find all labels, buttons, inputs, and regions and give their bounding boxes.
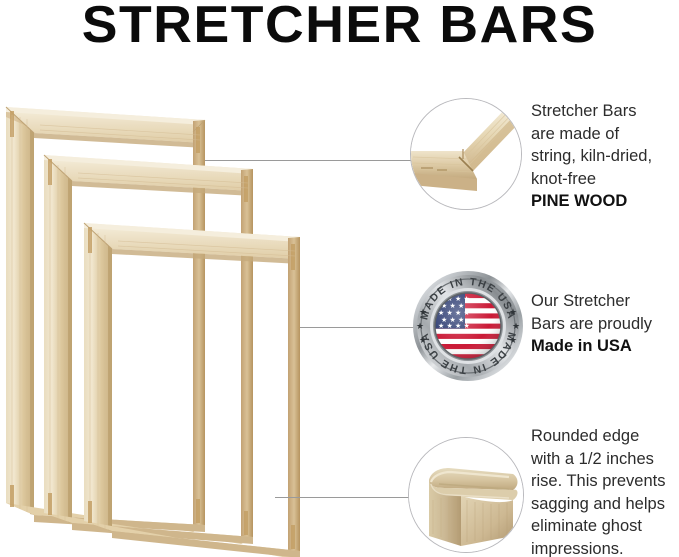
feature-line: string, kiln-dried, — [531, 145, 679, 168]
svg-text:★: ★ — [416, 322, 424, 332]
feature-emphasis: Made in USA — [531, 335, 679, 358]
feature-line: with a 1/2 inches — [531, 448, 679, 471]
wood-corner-photo — [410, 98, 522, 210]
feature-line: Bars are proudly — [531, 313, 679, 336]
feature-line: Stretcher Bars — [531, 100, 679, 123]
feature-emphasis: PINE WOOD — [531, 190, 679, 213]
connector-line-rounded-edge — [275, 497, 413, 498]
stretcher-bar-frames — [0, 85, 360, 545]
feature-line: Rounded edge — [531, 425, 679, 448]
infographic-page: STRETCHER BARS — [0, 0, 679, 557]
feature-text-made-in-usa: Our Stretcher Bars are proudly Made in U… — [531, 290, 679, 358]
feature-line: Our Stretcher — [531, 290, 679, 313]
feature-line: sagging and helps — [531, 493, 679, 516]
page-title: STRETCHER BARS — [0, 0, 679, 54]
svg-text:★: ★ — [419, 336, 427, 346]
frame-small — [84, 223, 300, 557]
frames-illustration — [0, 85, 360, 545]
feature-line: eliminate ghost — [531, 515, 679, 538]
connector-line-made-in-usa — [300, 327, 418, 328]
feature-line: are made of — [531, 123, 679, 146]
feature-line: rise. This prevents — [531, 470, 679, 493]
rounded-edge-photo — [408, 437, 524, 553]
svg-text:★: ★ — [509, 336, 517, 346]
svg-text:★: ★ — [419, 308, 427, 318]
connector-line-pine-wood — [205, 160, 415, 161]
feature-line: knot-free — [531, 168, 679, 191]
svg-text:★: ★ — [512, 322, 520, 332]
feature-text-pine-wood: Stretcher Bars are made of string, kiln-… — [531, 100, 679, 213]
feature-text-rounded-edge: Rounded edge with a 1/2 inches rise. Thi… — [531, 425, 679, 557]
svg-text:★: ★ — [509, 308, 517, 318]
feature-line: impressions. — [531, 538, 679, 557]
made-in-usa-badge: ★ ★ ★ ★ ★ ★ ★ ★ ★ ★ ★ ★ ★ ★ ★ ★ ★ ★ MADE… — [412, 270, 524, 382]
frame-medium — [44, 155, 253, 544]
